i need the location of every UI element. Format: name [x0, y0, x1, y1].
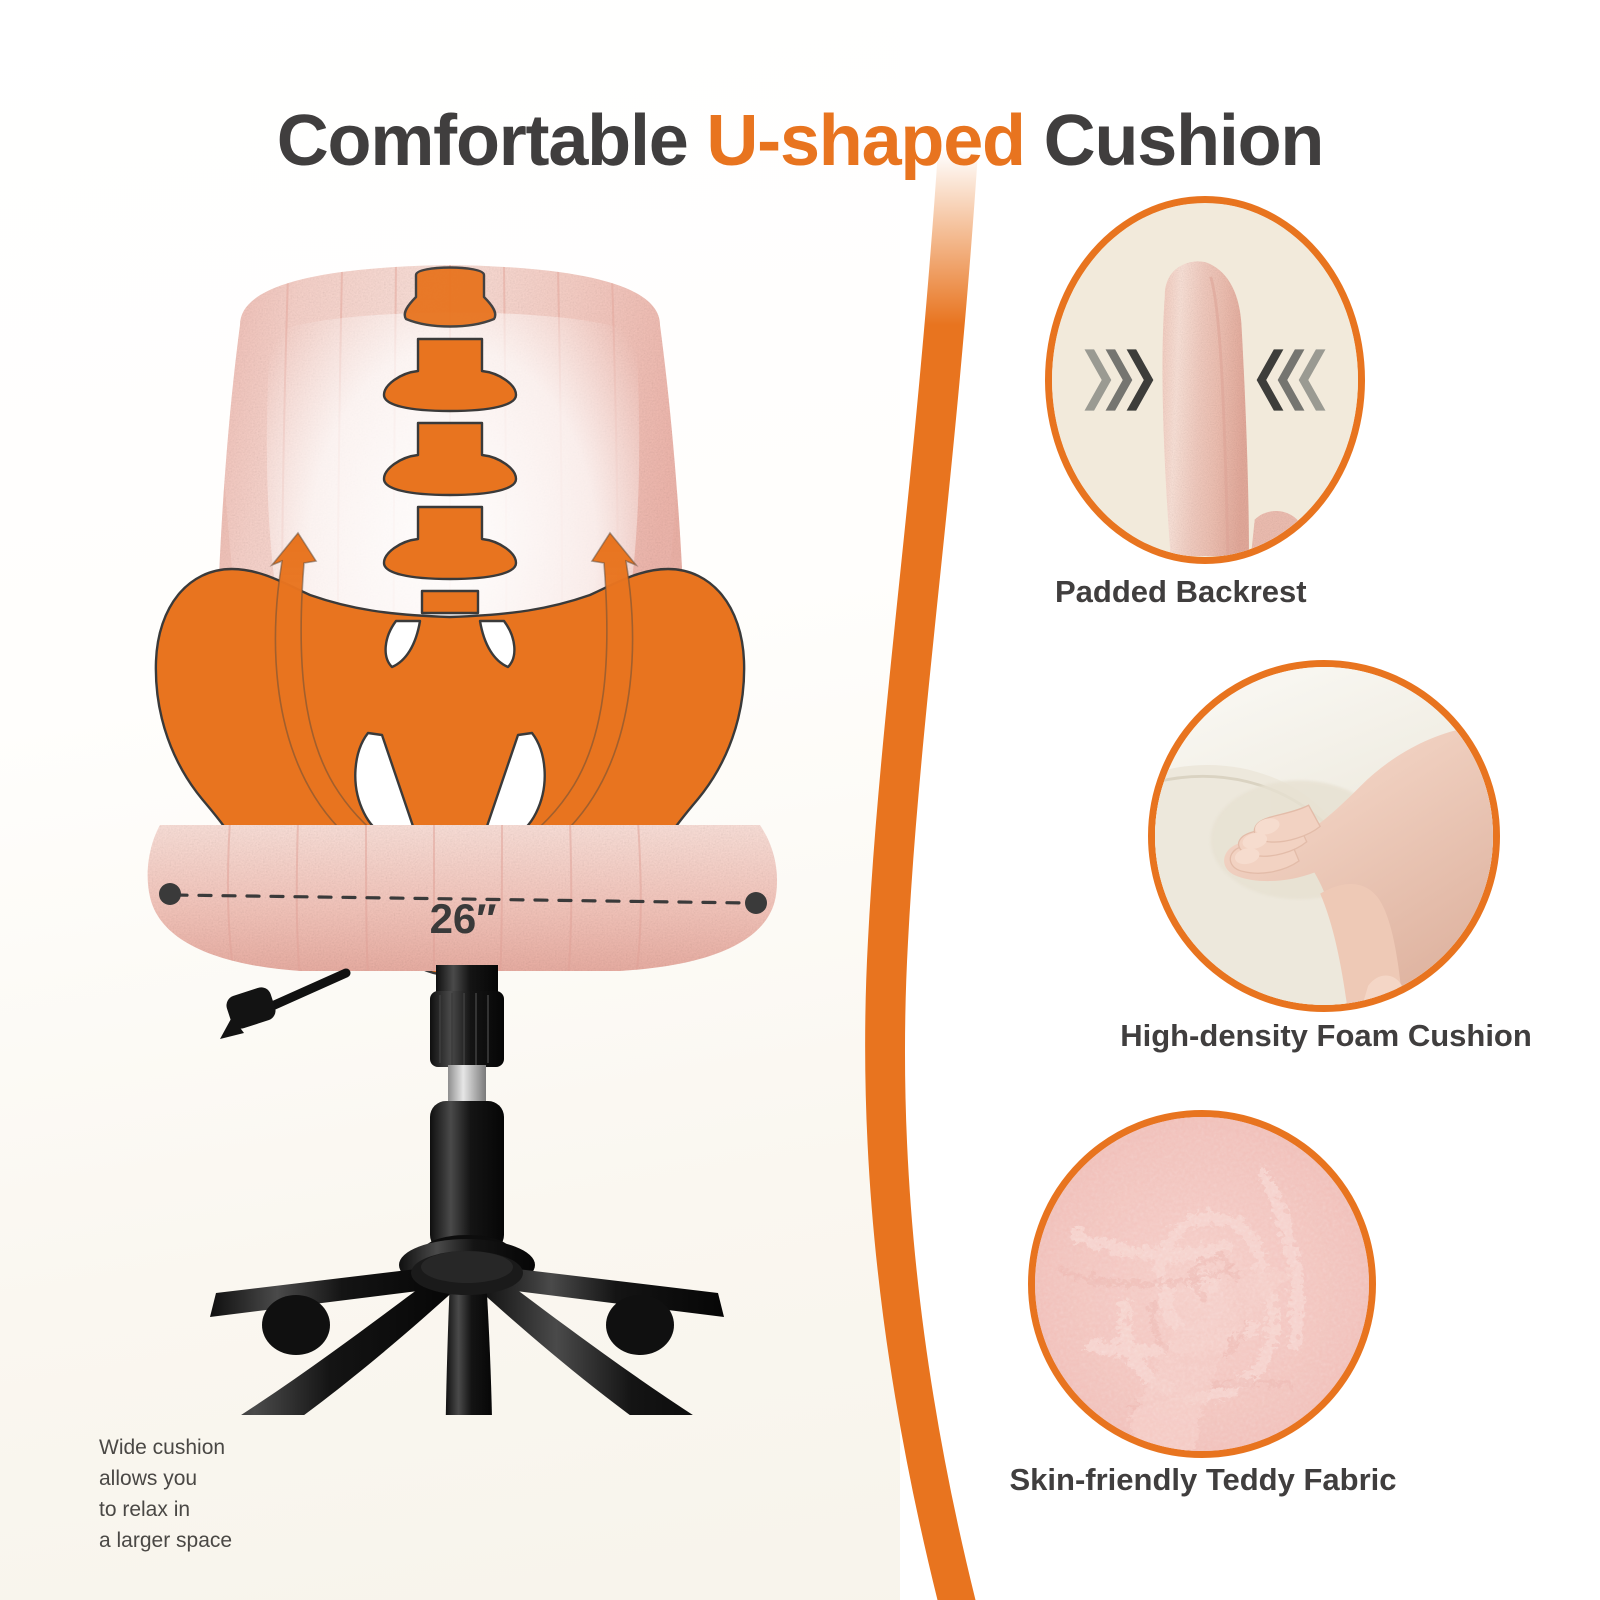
caster-wheel [262, 1295, 330, 1355]
measure-dot-left [159, 883, 181, 905]
caster-wheel [606, 1295, 674, 1355]
feature-image-padded-backrest [1045, 196, 1365, 564]
infographic-canvas: Comfortable U-shaped Cushion [0, 0, 1600, 1600]
page-title: Comfortable U-shaped Cushion [0, 100, 1600, 182]
product-chair-illustration: 26′′ [120, 265, 920, 1415]
dimension-label: 26′′ [430, 895, 497, 942]
chair-seat: 26′′ [148, 819, 777, 977]
feature-foam-cushion: High-density Foam Cushion [1148, 660, 1500, 1012]
gas-lift-cylinder [423, 965, 511, 1267]
height-adjust-lever [220, 973, 346, 1039]
caption-line-1: Wide cushion [99, 1432, 399, 1463]
feature-label-teddy-fabric: Skin-friendly Teddy Fabric [978, 1462, 1428, 1498]
feature-image-foam-cushion [1148, 660, 1500, 1012]
feature-padded-backrest: Padded Backrest [1035, 196, 1375, 564]
feature-teddy-fabric: Skin-friendly Teddy Fabric [1028, 1110, 1376, 1458]
title-part-one: Comfortable [277, 101, 707, 181]
feature-label-foam-cushion: High-density Foam Cushion [1086, 1018, 1566, 1054]
feature-label-padded-backrest: Padded Backrest [1055, 574, 1525, 610]
caption-line-3: to relax in [99, 1494, 399, 1525]
chair-base [130, 1239, 808, 1415]
measure-dot-right [745, 892, 767, 914]
wide-cushion-caption: Wide cushion allows you to relax in a la… [99, 1432, 399, 1556]
caption-line-4: a larger space [99, 1525, 399, 1556]
caption-line-2: allows you [99, 1463, 399, 1494]
feature-image-teddy-fabric [1028, 1110, 1376, 1458]
